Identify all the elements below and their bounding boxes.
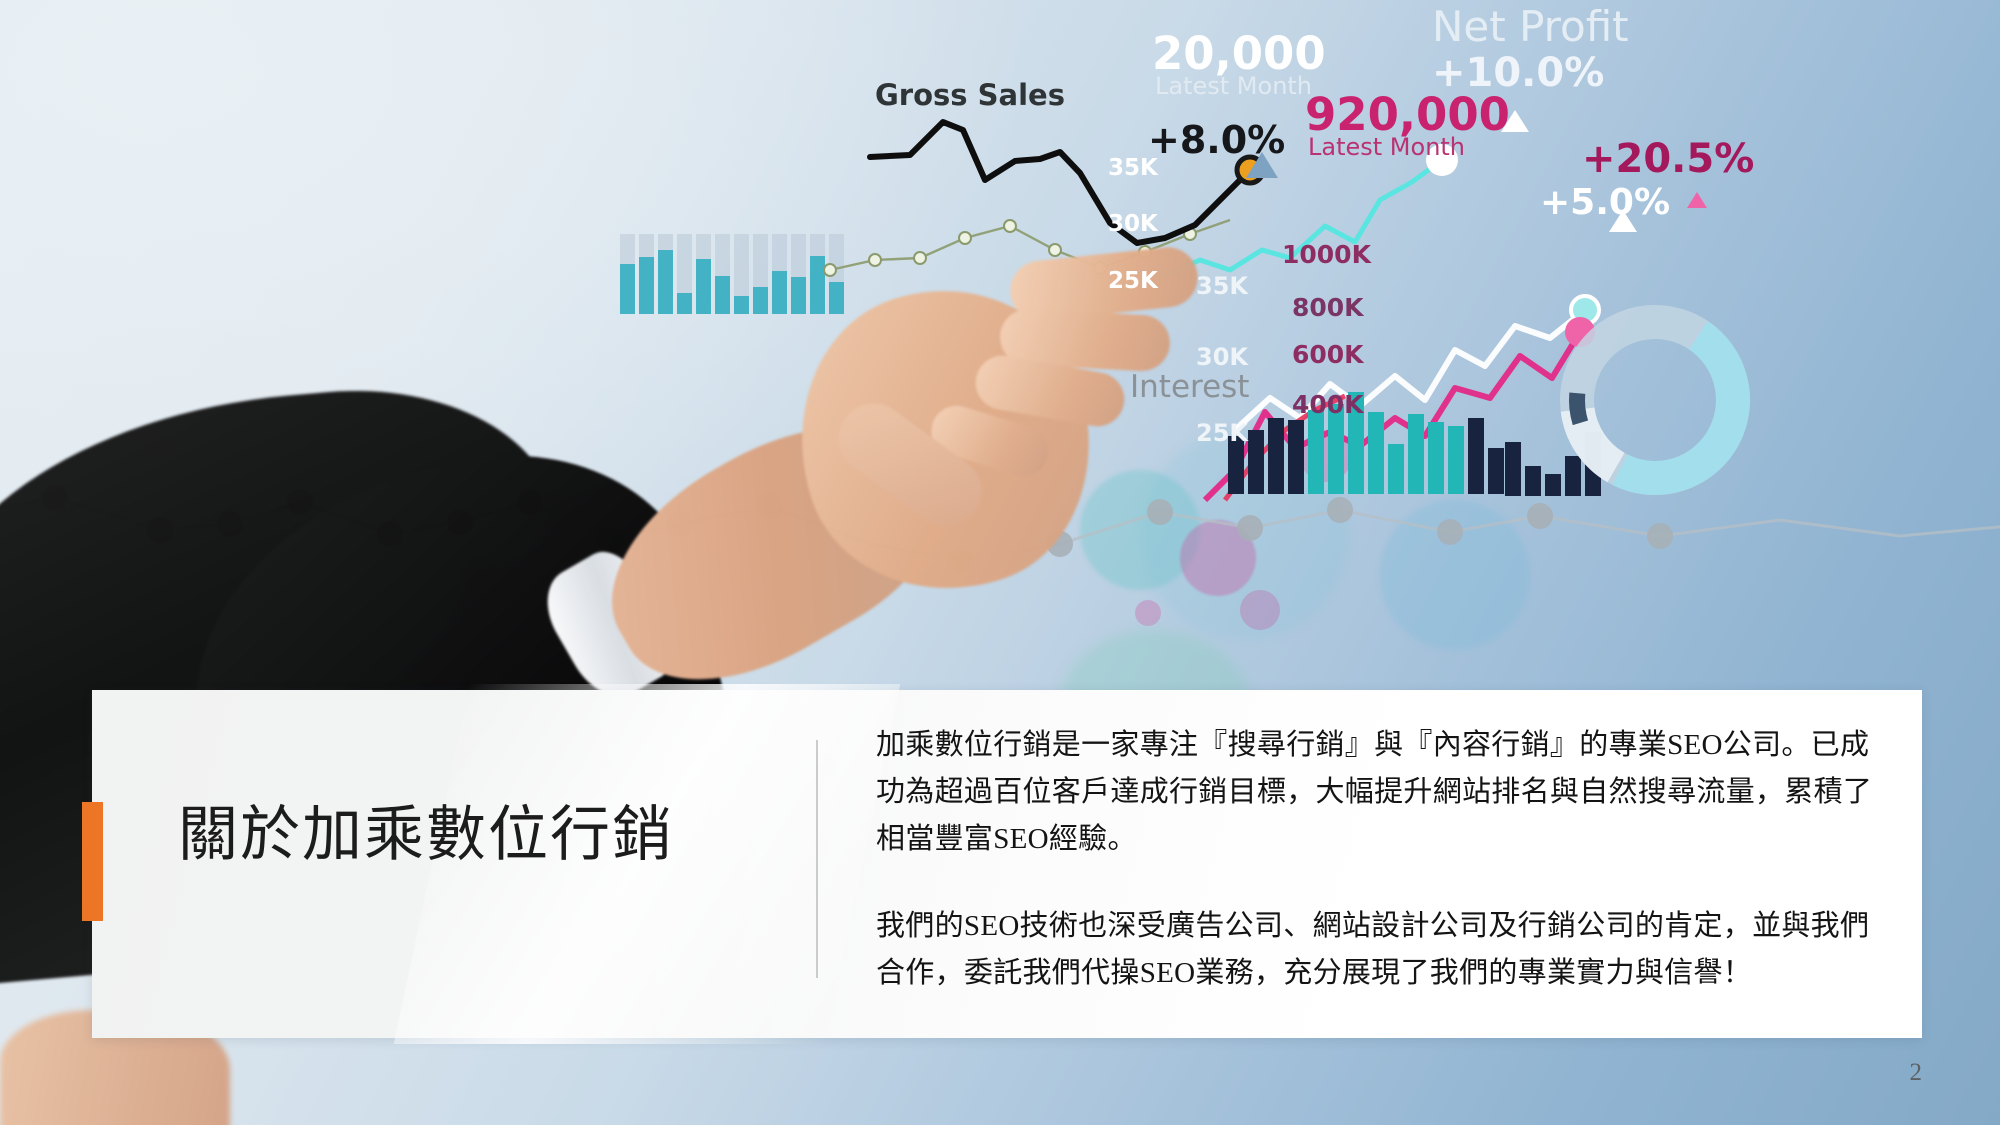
axis-tick-35k-mid: 35K: [1196, 272, 1248, 300]
body-text-block: 加乘數位行銷是一家專注『搜尋行銷』與『內容行銷』的專業SEO公司。已成功為超過百…: [876, 722, 1886, 997]
delta-20-5-label: +20.5%: [1582, 136, 1754, 182]
bokeh-circle: [1380, 500, 1530, 650]
latest-month-20000-caption: Latest Month: [1155, 72, 1312, 100]
page-number: 2: [1910, 1059, 1923, 1087]
slide-canvas: Gross Sales Net Profit Interest 20,000 L…: [0, 0, 2000, 1125]
bokeh-circle: [1135, 600, 1161, 626]
gross-sales-line: [865, 95, 1265, 285]
delta-8-label: +8.0%: [1148, 118, 1285, 162]
paragraph-1: 加乘數位行銷是一家專注『搜尋行銷』與『內容行銷』的專業SEO公司。已成功為超過百…: [876, 722, 1886, 863]
latest-month-20000-value: 20,000: [1152, 27, 1326, 80]
delta-5-label: +5.0%: [1540, 182, 1670, 223]
triangle-up-icon: [1686, 190, 1708, 210]
vertical-divider: [816, 740, 818, 978]
paragraph-2: 我們的SEO技術也深受廣告公司、網站設計公司及行銷公司的肯定，並與我們合作，委託…: [876, 903, 1886, 997]
latest-month-920000-caption: Latest Month: [1308, 133, 1465, 161]
axis-tick-800k: 800K: [1292, 293, 1364, 322]
axis-tick-1000k: 1000K: [1282, 240, 1371, 269]
bar-chart-centre-tail: [1505, 418, 1615, 498]
donut-chart: [1545, 290, 1765, 510]
bar-chart-left: [620, 230, 860, 320]
gross-sales-label: Gross Sales: [875, 78, 1065, 112]
axis-tick-30k-mid: 30K: [1196, 343, 1248, 371]
triangle-up-icon: [1500, 108, 1530, 134]
axis-tick-400k: 400K: [1292, 390, 1364, 419]
white-trend-line: [1230, 280, 1650, 460]
delta-10-label: +10.0%: [1432, 50, 1604, 96]
bokeh-circle: [1140, 430, 1350, 640]
net-profit-label: Net Profit: [1432, 2, 1629, 51]
latest-month-920000-value: 920,000: [1305, 88, 1510, 141]
axis-tick-600k: 600K: [1292, 340, 1364, 369]
axis-tick-30k-left: 30K: [1108, 211, 1158, 237]
interest-label: Interest: [1130, 369, 1249, 405]
page-title: 關於加乘數位行銷: [178, 800, 788, 871]
accent-bar: [82, 802, 103, 921]
triangle-up-icon: [1245, 150, 1279, 180]
axis-tick-35k-left: 35K: [1108, 155, 1158, 181]
triangle-up-icon: [1608, 208, 1638, 234]
cyan-trend-line: [1150, 130, 1570, 330]
